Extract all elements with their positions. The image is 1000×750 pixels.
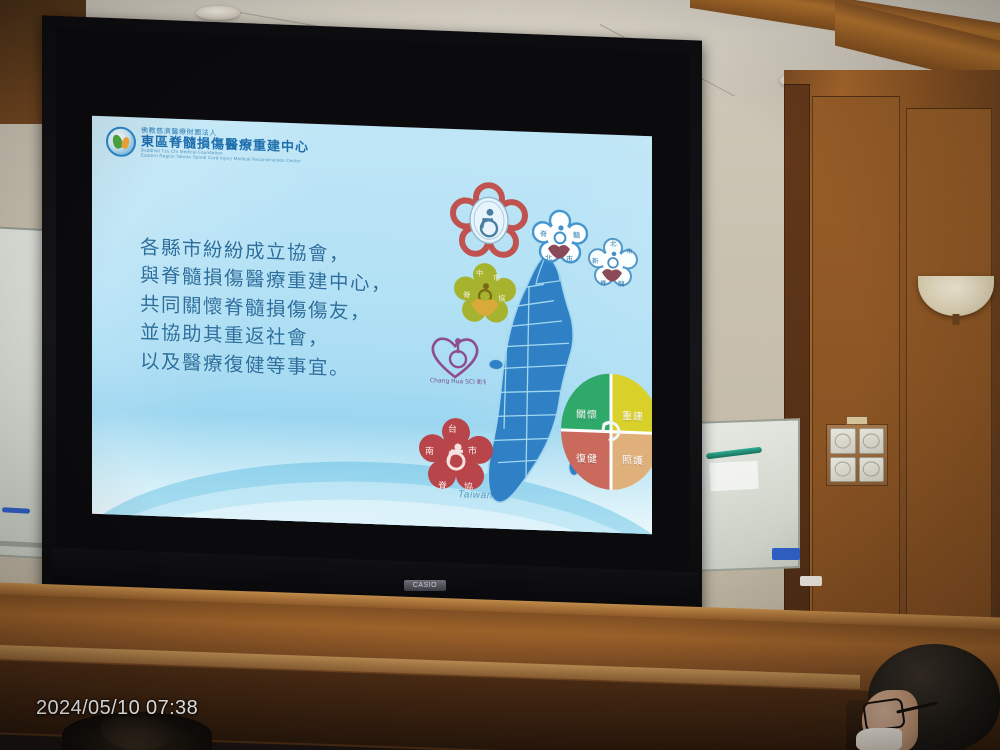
svg-text:髓: 髓: [618, 279, 625, 288]
care-wheel-diagram: 關懷 重建 復健 照護: [560, 371, 652, 498]
four-quadrant-wheel-svg: [560, 371, 652, 493]
logo-new-taipei-city-sci-association: 新 北 市 脊 髓: [588, 236, 638, 288]
wheel-label-care: 關懷: [576, 405, 598, 421]
wall-socket-plate[interactable]: [826, 424, 888, 486]
small-white-object: [800, 576, 822, 586]
wheel-label-nursing: 照護: [622, 451, 644, 467]
photo-timestamp: 2024/05/10 07:38: [36, 697, 198, 720]
ceiling-downlight: [196, 6, 240, 20]
svg-text:協: 協: [464, 480, 473, 492]
wall-socket[interactable]: [859, 457, 885, 483]
svg-text:台: 台: [448, 423, 457, 435]
logo-taipei-city-sci-association: 脊 髓 北 市: [532, 208, 588, 266]
svg-text:中: 中: [476, 268, 483, 278]
heart-wheelchair-icon: Chang Hua SCI 彰化: [424, 328, 486, 386]
tzu-chi-lotus-icon: [106, 126, 136, 157]
face-mask: [856, 728, 902, 750]
presentation-slide: 佛教慈濟醫療財團法人 東區脊髓損傷醫療重建中心 Buddhist Tzu Chi…: [92, 116, 652, 535]
wall-socket[interactable]: [830, 428, 856, 454]
svg-text:市: 市: [468, 445, 477, 457]
logo-taichung-city-sci-association: 中 市 脊 協: [454, 261, 516, 325]
logo-changhua-sci-association: Chang Hua SCI 彰化: [424, 328, 486, 386]
svg-text:北: 北: [545, 254, 552, 262]
svg-text:南: 南: [425, 445, 434, 457]
plum-flower-icon: 中 市 脊 協: [454, 261, 516, 325]
plum-flower-icon: 台 市 南 脊 協: [418, 416, 494, 495]
logo-national-sci-association: [450, 181, 528, 262]
photo-scene: 佛教慈濟醫療財團法人 東區脊髓損傷醫療重建中心 Buddhist Tzu Chi…: [0, 0, 1000, 750]
svg-text:脊: 脊: [463, 289, 471, 299]
svg-text:協: 協: [498, 293, 506, 303]
svg-text:脊: 脊: [600, 278, 607, 287]
wheel-quadrant-care: [561, 372, 611, 432]
projector-brand-badge: CASIO: [404, 580, 446, 591]
svg-text:脊: 脊: [540, 229, 547, 238]
socket-label-tag: [846, 416, 868, 425]
organization-logo: 佛教慈濟醫療財團法人 東區脊髓損傷醫療重建中心 Buddhist Tzu Chi…: [106, 126, 309, 164]
svg-text:北: 北: [610, 240, 617, 248]
wheel-label-rebuild: 重建: [622, 407, 644, 423]
plum-flower-icon: [450, 181, 528, 262]
svg-text:新: 新: [592, 256, 599, 265]
wall-socket[interactable]: [830, 457, 856, 483]
svg-text:Chang Hua SCI 彰化: Chang Hua SCI 彰化: [430, 376, 486, 386]
svg-text:市: 市: [566, 254, 573, 263]
svg-text:脊: 脊: [438, 479, 447, 491]
plum-flower-icon: 新 北 市 脊 髓: [588, 236, 638, 288]
plum-flower-icon: 脊 髓 北 市: [532, 208, 588, 266]
svg-text:市: 市: [493, 272, 501, 282]
svg-text:市: 市: [626, 246, 633, 255]
wall-socket[interactable]: [859, 428, 885, 454]
slide-body-text: 各縣市紛紛成立協會， 與脊髓損傷醫療重建中心， 共同關懷脊髓損傷傷友， 並協助其…: [140, 233, 392, 385]
logo-tainan-city-sci-association: 台 市 南 脊 協: [418, 416, 494, 495]
wheel-label-rehab: 復健: [576, 449, 598, 465]
svg-text:髓: 髓: [573, 230, 580, 239]
blue-box-object: [772, 548, 800, 560]
paper-note: [709, 461, 758, 491]
